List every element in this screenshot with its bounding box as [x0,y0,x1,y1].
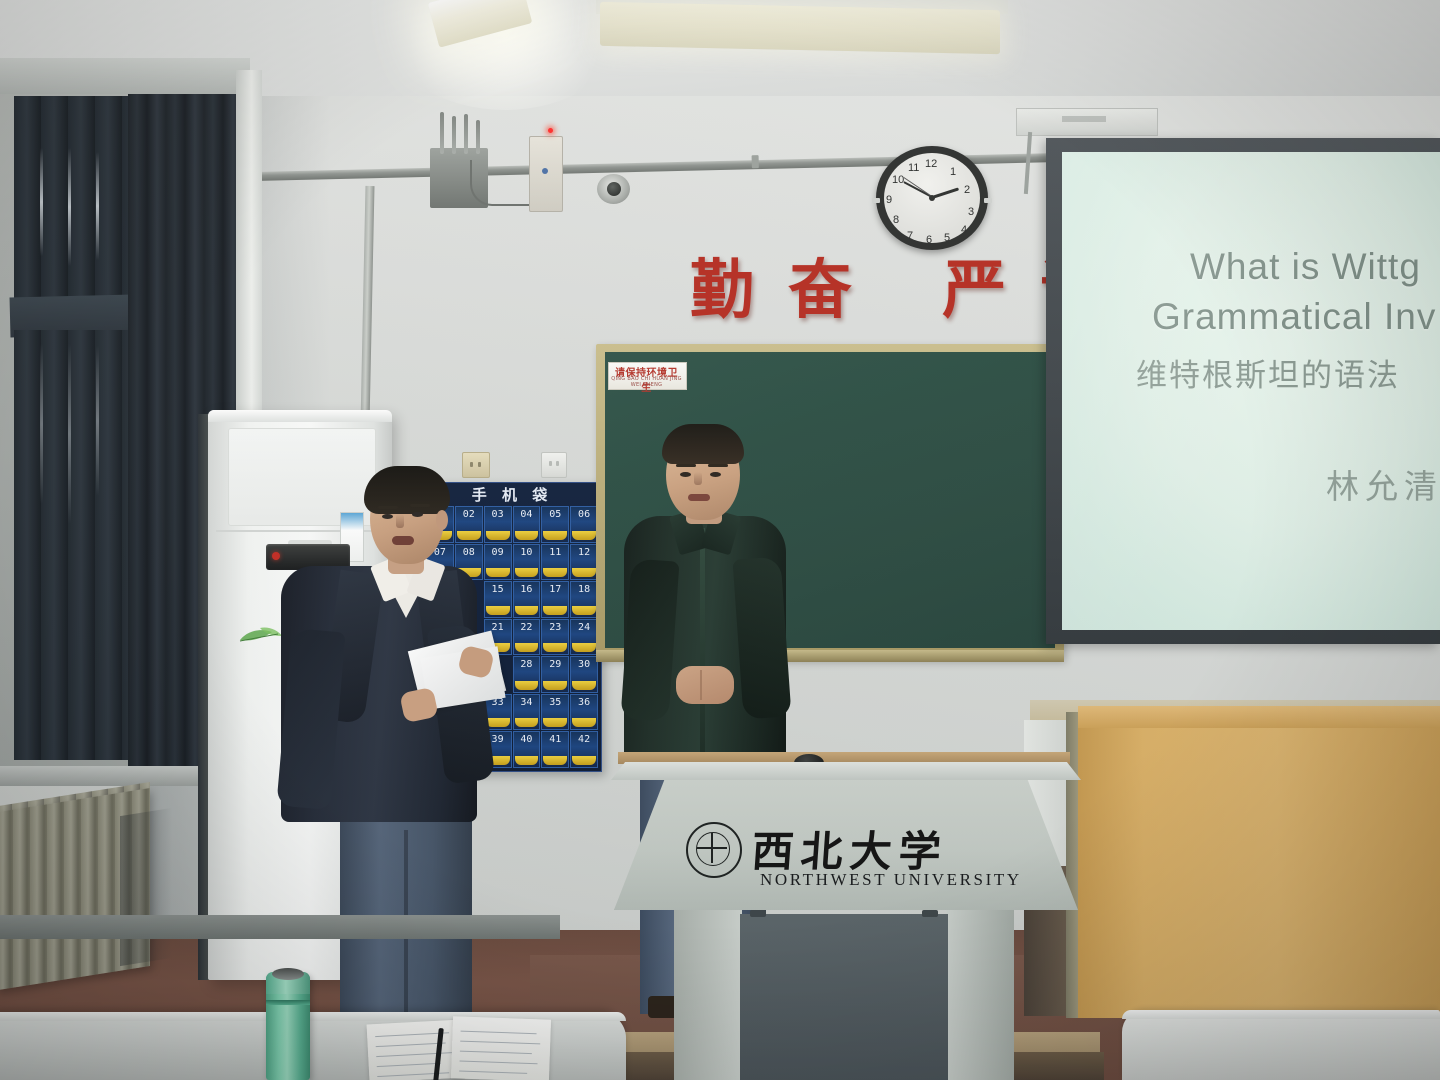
phone-pocket[interactable]: 11 [541,544,569,581]
phone-pocket-lip [543,643,567,652]
phone-pocket-number: 04 [514,509,540,520]
phone-pocket[interactable]: 29 [541,656,569,693]
window-blind-upper [14,96,130,314]
phone-pocket-lip [515,643,539,652]
thermos-band [266,1000,310,1005]
blind-light-gap [96,346,99,496]
phone-pocket-lip [515,681,539,690]
junction-box [529,136,563,212]
power-led-icon [272,552,280,560]
phone-pocket-lip [486,568,510,577]
clock-numeral: 11 [908,162,919,174]
phone-pocket[interactable]: 17 [541,581,569,618]
phone-pocket-number: 28 [514,659,540,670]
person-left-nose [396,514,404,528]
phone-pocket-number: 02 [456,509,482,520]
person-left-eye [412,512,423,517]
person-right-hand-seam [700,670,702,700]
phone-pocket-number: 24 [571,622,597,633]
box-button-icon [542,168,548,174]
phone-pocket-lip [572,606,596,615]
phone-pocket[interactable]: 24 [570,619,598,656]
person-right-nose [694,472,702,485]
phone-pocket-lip [486,606,510,615]
phone-pocket[interactable]: 23 [541,619,569,656]
phone-pocket[interactable]: 18 [570,581,598,618]
wall-outlet-white[interactable] [541,452,567,478]
phone-pocket-number: 03 [485,509,511,520]
baseboard [0,915,560,939]
phone-pocket-lip [515,718,539,727]
phone-pocket-lip [515,756,539,765]
status-led-icon [548,128,553,133]
phone-pocket-number: 11 [542,547,568,558]
fluorescent-tube-light [600,2,1000,54]
clock-numeral: 4 [961,224,967,236]
blind-light-gap [96,152,99,260]
phone-pocket[interactable]: 36 [570,694,598,731]
phone-pocket[interactable]: 12 [570,544,598,581]
phone-pocket-number: 22 [514,622,540,633]
clock-mount [984,198,992,203]
person-left-eyebrow [410,504,430,507]
jammer-cable [470,160,536,206]
phone-pocket-number: 17 [542,584,568,595]
person-left-ear [436,510,448,530]
phone-pocket[interactable]: 02 [455,506,483,543]
phone-pocket-number: 30 [571,659,597,670]
phone-pocket-number: 35 [542,697,568,708]
phone-pocket-number: 08 [456,547,482,558]
phone-pocket-number: 29 [542,659,568,670]
notebook-right-page[interactable] [451,1016,551,1080]
radiator-shadow [120,808,172,966]
right-foreground-table [1122,1010,1440,1080]
phone-pocket-lip [515,568,539,577]
phone-pocket-lip [572,756,596,765]
podium-hinge [750,910,766,917]
phone-pocket-number: 18 [571,584,597,595]
phone-pocket-title: 手 机 袋 [424,484,600,506]
person-left-eyebrow [378,506,398,509]
phone-pocket-lip [572,718,596,727]
phone-pocket[interactable]: 35 [541,694,569,731]
clock-numeral: 6 [926,234,932,246]
air-conditioner-top [208,410,392,422]
phone-pocket-lip [486,531,510,540]
phone-pocket-number: 15 [485,584,511,595]
phone-pocket[interactable]: 28 [513,656,541,693]
person-right-hands [676,666,734,704]
phone-pocket[interactable]: 16 [513,581,541,618]
classroom-photo: 12 1 2 3 4 5 6 7 8 9 10 11 勤奋 严谨 [0,0,1440,1080]
phone-pocket-number: 10 [514,547,540,558]
person-left-hair [364,466,450,514]
clock-numeral: 7 [907,230,913,242]
phone-pocket-number: 40 [514,734,540,745]
phone-pocket[interactable]: 30 [570,656,598,693]
blind-light-gap [40,344,43,504]
phone-pocket[interactable]: 15 [484,581,512,618]
phone-pocket-number: 41 [542,734,568,745]
right-foreground-table-lip [1122,1010,1440,1019]
phone-pocket-number: 23 [542,622,568,633]
phone-pocket[interactable]: 34 [513,694,541,731]
clock-numeral: 12 [925,158,937,170]
phone-pocket[interactable]: 42 [570,731,598,768]
phone-pocket[interactable]: 06 [570,506,598,543]
blind-light-gap [68,344,71,524]
podium-top [611,762,1081,780]
phone-pocket-lip [515,531,539,540]
phone-pocket-lip [515,606,539,615]
wall-fixture [1016,108,1158,136]
phone-pocket-number: 05 [542,509,568,520]
person-right-eyebrow [708,464,728,467]
phone-pocket-number: 12 [571,547,597,558]
phone-pocket[interactable]: 09 [484,544,512,581]
thermos-rim [272,968,304,980]
phone-pocket-lip [572,643,596,652]
phone-pocket[interactable]: 22 [513,619,541,656]
clock-center-pin [929,195,935,201]
person-right-eye [710,472,721,477]
podium-hinge [922,910,938,917]
person-right-eyebrow [676,464,696,467]
phone-pocket-number: 42 [571,734,597,745]
right-desk-wood-panel [1078,708,1440,1018]
clock-numeral: 2 [964,184,970,196]
clock-numeral: 3 [968,206,974,218]
wall-outlet-beige[interactable] [462,452,490,478]
phone-pocket-lip [543,681,567,690]
podium-university-name-en: NORTHWEST UNIVERSITY [760,870,1022,890]
phone-pocket-lip [543,606,567,615]
clock-numeral: 1 [950,166,956,178]
phone-pocket[interactable]: 41 [541,731,569,768]
person-right-hair [662,424,744,464]
clock-numeral: 8 [893,214,899,226]
phone-pocket-lip [543,568,567,577]
podium-leg [674,908,742,1080]
phone-pocket-number: 09 [485,547,511,558]
sensor-lens-icon [607,182,621,196]
clock-numeral: 10 [892,174,904,186]
person-right-zipper [700,528,705,760]
phone-pocket-number: 34 [514,697,540,708]
clock-numeral: 5 [944,232,950,244]
phone-pocket-lip [572,568,596,577]
seal-cross-v [711,833,713,863]
person-right-eye [680,472,691,477]
phone-pocket[interactable]: 03 [484,506,512,543]
phone-pocket[interactable]: 10 [513,544,541,581]
phone-pocket-lip [543,756,567,765]
podium-back-panel [740,914,948,1080]
right-desk-wood-top [1078,706,1440,728]
phone-pocket-number: 06 [571,509,597,520]
blind-light-gap [68,148,71,266]
person-right-mouth [688,494,710,501]
clock-numeral: 9 [886,194,892,206]
blind-light-gap [40,148,43,256]
phone-pocket-number: 36 [571,697,597,708]
phone-pocket-lip [543,718,567,727]
phone-pocket-lip [457,531,481,540]
phone-pocket-lip [486,718,510,727]
phone-pocket-lip [572,681,596,690]
phone-pocket-lip [572,531,596,540]
window-header [0,58,250,94]
phone-pocket[interactable]: 04 [513,506,541,543]
phone-pocket[interactable]: 40 [513,731,541,768]
screen-sheen [1062,152,1440,630]
person-left-mouth [392,536,414,545]
fixture-label [1062,116,1106,122]
person-left-eye [382,514,393,519]
window-blind-lower [14,330,130,760]
university-seal-inner [696,832,730,866]
phone-pocket[interactable]: 05 [541,506,569,543]
podium-leg [946,908,1014,1080]
clock-mount [872,198,880,203]
phone-pocket-number: 16 [514,584,540,595]
phone-pocket-lip [543,531,567,540]
hygiene-sign-pinyin: QING BAO CHI HUAN JING WEI SHENG [610,376,683,388]
